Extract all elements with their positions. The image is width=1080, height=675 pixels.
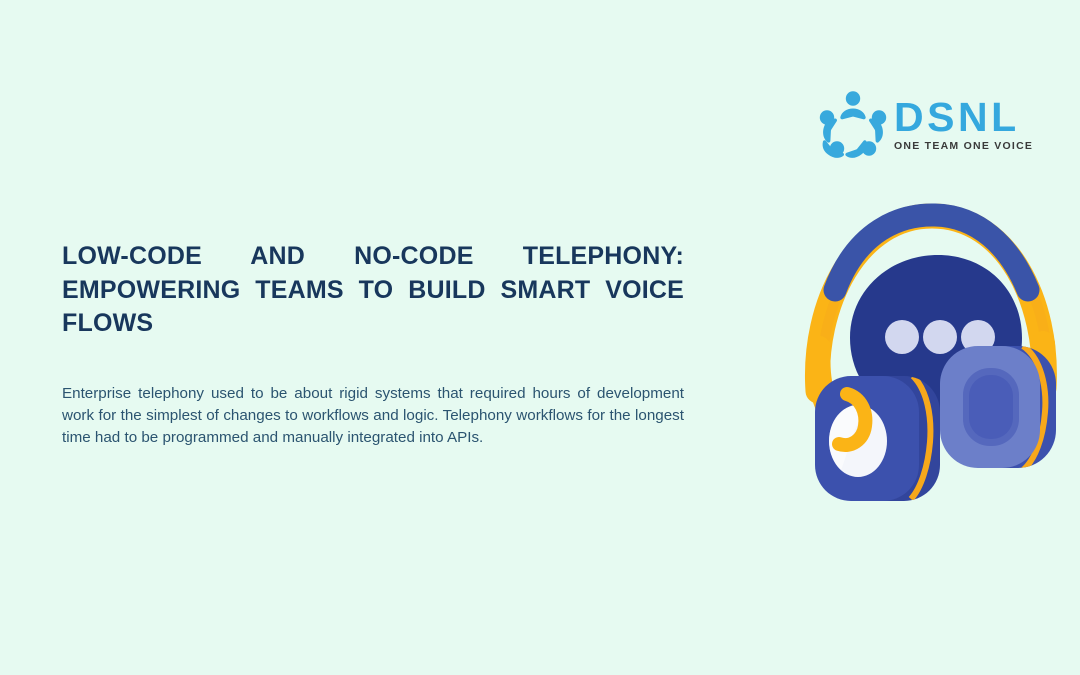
headphones-with-chat-bubble-illustration (795, 198, 1067, 503)
logo-wordmark: DSNL (894, 97, 1033, 137)
logo-tagline: ONE TEAM ONE VOICE (894, 139, 1033, 153)
logo-text-group: DSNL ONE TEAM ONE VOICE (894, 95, 1033, 153)
banner-canvas: DSNL ONE TEAM ONE VOICE LOW-CODE AND NO-… (0, 0, 1080, 675)
page-title: LOW-CODE AND NO-CODE TELEPHONY: EMPOWERI… (62, 240, 684, 374)
five-people-star-icon (818, 89, 888, 159)
right-earcup (940, 346, 1056, 470)
brand-logo[interactable]: DSNL ONE TEAM ONE VOICE (818, 86, 1018, 162)
left-earcup (815, 376, 940, 501)
article-text-block: LOW-CODE AND NO-CODE TELEPHONY: EMPOWERI… (62, 240, 684, 448)
body-paragraph: Enterprise telephony used to be about ri… (62, 383, 684, 448)
